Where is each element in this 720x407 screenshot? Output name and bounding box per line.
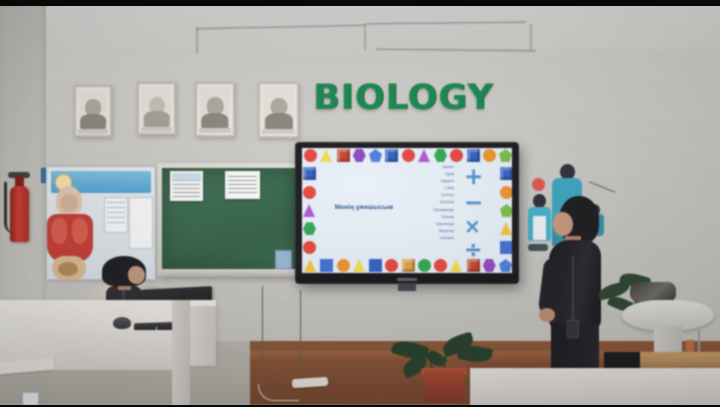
minus-operator-icon: − [464, 192, 483, 215]
slide-border-shape-cube [385, 149, 398, 162]
poster-line [107, 222, 125, 223]
paper-line [173, 184, 200, 185]
slide-border-shape-square [369, 259, 382, 272]
panel-wall-mount [398, 283, 416, 291]
paper-line [228, 184, 257, 185]
teacher-face [553, 212, 573, 236]
ceiling-seam-vertical [530, 24, 532, 50]
slide-border-shape-cube [337, 149, 350, 162]
presentation-slide: Менің ұяншысым КөкөнісСұрақТақырыпСабақЕ… [302, 148, 512, 273]
plus-operator-icon: + [464, 166, 483, 189]
slide-border-shape-circle [337, 259, 350, 272]
slide-border-shape-circle [303, 186, 316, 199]
poster-column-left [104, 197, 128, 233]
slide-border-shape-hexagon [483, 259, 496, 272]
slide-border-shape-circle [303, 241, 316, 254]
panel-logo [397, 278, 417, 281]
slide-border-shape-circle [500, 186, 512, 199]
ceiling-band [0, 4, 720, 50]
portrait-caption [141, 127, 172, 132]
slide-list-item: Есептер [410, 192, 454, 199]
slide-list-item: Көкөніс [410, 164, 454, 171]
portrait-frame-2 [137, 82, 176, 135]
portrait-caption [199, 128, 231, 133]
multiply-operator-icon: × [464, 216, 481, 236]
desk-side-panel [186, 306, 216, 366]
anatomy-lung-left [51, 218, 67, 244]
plant-leaf [457, 343, 493, 365]
poster-line [107, 217, 125, 218]
poster-line [107, 202, 125, 203]
paper-line [173, 196, 200, 197]
portrait-body [201, 113, 228, 130]
slide-border-shape-circle [418, 259, 431, 272]
ceiling-seam-vertical [196, 27, 198, 53]
divide-operator-icon: ÷ [464, 240, 482, 262]
paper-line [228, 180, 257, 181]
slide-border-shape-triangle [304, 259, 316, 272]
teacher-hand [539, 308, 555, 322]
slide-border-shape-triangle [353, 259, 365, 272]
slide-border-shape-circle [304, 149, 317, 162]
fire-extinguisher-label [22, 392, 39, 406]
slide-list-item: Тапсырмалар [410, 207, 454, 214]
anatomy-lung-right [72, 218, 88, 244]
slide-border-shape-pentagon [369, 149, 382, 162]
foreground-table [470, 368, 720, 407]
teacher-id-badge [567, 320, 579, 338]
slide-border-shape-pentagon [499, 259, 512, 272]
slide-list-item: Бағалау [410, 214, 454, 221]
slide-title: Менің ұяншысым [326, 204, 402, 212]
panel-bezel-bottom [296, 273, 518, 283]
slide-border-shape-pentagon [500, 204, 512, 217]
slide-border-shape-pentagon [499, 149, 512, 162]
portrait-caption [78, 129, 108, 134]
slide-border-shape-triangle [500, 222, 512, 235]
slide-border-shape-square [500, 241, 512, 254]
portrait-frame-4 [258, 82, 299, 138]
slide-border-shape-triangle [418, 149, 430, 162]
faucet-fixture [630, 282, 676, 302]
slide-list-item: Тұлғалар [410, 199, 454, 206]
paper-line [228, 188, 257, 189]
portrait-frame-1 [74, 85, 112, 137]
paper-line [228, 176, 257, 177]
slide-border-shape-triangle [450, 259, 462, 272]
slide-border-shape-triangle [303, 204, 315, 217]
fire-extinguisher-icon [10, 186, 29, 242]
slide-border-shape-circle [483, 149, 496, 162]
poster-line [107, 212, 125, 213]
biology-wall-sign: BIOLOGY [313, 78, 533, 118]
slide-list-item: Сұрақ [410, 171, 454, 178]
slide-border-shape-square [320, 259, 333, 272]
poster-blank-panel [130, 201, 150, 241]
slide-border-shape-triangle [320, 149, 332, 162]
portrait-caption [262, 129, 295, 134]
paper-line [173, 188, 200, 189]
slide-border-shape-cube [500, 167, 512, 180]
paper-line [228, 192, 257, 193]
slide-border-shape-circle [385, 259, 398, 272]
anatomy-face [60, 194, 78, 212]
slide-border-shape-circle [450, 149, 463, 162]
interactive-flat-panel[interactable]: Менің ұяншысым КөкөнісСұрақТақырыпСабақЕ… [296, 143, 518, 283]
wall-column [172, 300, 190, 407]
letterbox-top [0, 0, 720, 6]
slide-border-shape-circle [402, 149, 415, 162]
paper-line [173, 192, 200, 193]
portrait-body [264, 113, 292, 131]
anatomy-organ [58, 262, 78, 276]
portrait-frame-3 [195, 82, 235, 137]
slide-list-item: Сабақ [410, 185, 454, 192]
slide-border-shape-cube [303, 167, 316, 180]
student-face [128, 266, 145, 284]
slide-border-shape-cube [402, 259, 415, 272]
slide-border-shape-hexagon [353, 149, 366, 162]
slide-list-item: Қорытынды [410, 221, 454, 228]
panel-screen[interactable]: Менің ұяншысым КөкөнісСұрақТақырыпСабақЕ… [302, 148, 512, 273]
slide-border-shape-hexagon [434, 149, 447, 162]
classroom-photo: BIOLOGY [0, 0, 720, 407]
chalk-tray [160, 270, 300, 275]
slide-list-item: Жауаптар [410, 228, 454, 235]
slide-border-shape-cube [467, 149, 480, 162]
wall-cable-2 [300, 290, 311, 372]
pinned-paper-left [170, 171, 203, 201]
wall-cable-1 [262, 286, 277, 372]
mural-sun-icon [532, 178, 545, 191]
board-accessory-box [275, 250, 292, 269]
paper-header-band [172, 173, 201, 181]
teacher-lanyard [572, 256, 574, 322]
pinned-paper-right [225, 171, 260, 199]
slide-border-shape-circle [434, 259, 447, 272]
slide-border-shape-hexagon [303, 222, 316, 235]
slide-list-item: Тақырып [410, 178, 454, 185]
ceiling-seam-vertical [364, 24, 366, 50]
slide-list: КөкөнісСұрақТақырыпСабақЕсептерТұлғаларТ… [410, 164, 454, 242]
plant-pot [424, 370, 464, 402]
slide-list-item: Нәтижесі [410, 235, 454, 242]
poster-line [107, 207, 125, 208]
